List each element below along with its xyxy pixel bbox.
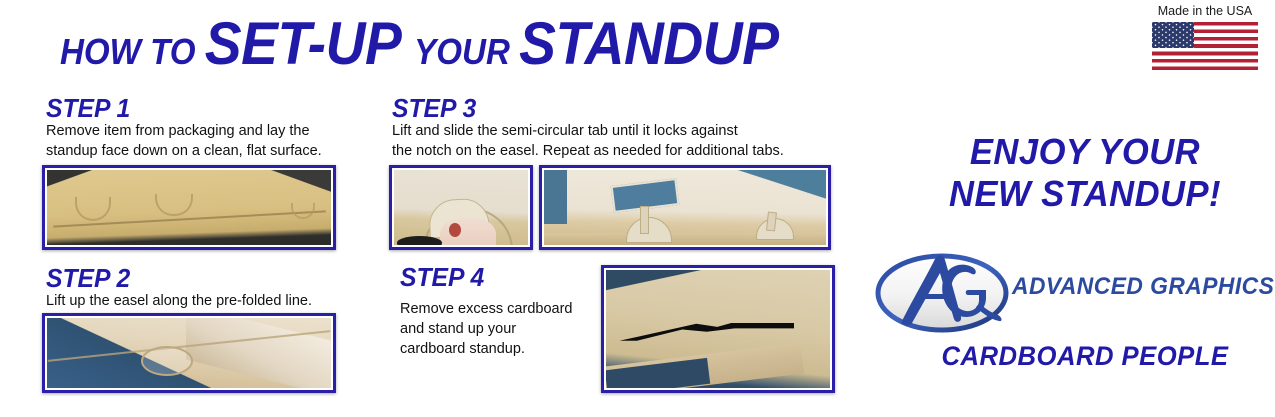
step-3-photo-left [389, 165, 533, 250]
flag-canton [1152, 22, 1194, 48]
enjoy-message: ENJOY YOUR NEW STANDUP! [912, 131, 1258, 215]
made-in-usa-label: Made in the USA [1146, 4, 1264, 19]
step-1-body: Remove item from packaging and lay the s… [46, 121, 356, 161]
step-4-body: Remove excess cardboard and stand up you… [400, 299, 610, 359]
us-flag-icon [1152, 22, 1258, 70]
title-part-standup: STANDUP [519, 10, 778, 77]
step-2-photo-image [47, 318, 331, 388]
step-4-photo [601, 265, 835, 393]
made-in-usa-badge: Made in the USA [1146, 4, 1264, 72]
title-part-your: YOUR [414, 31, 519, 72]
enjoy-line-2: NEW STANDUP! [912, 173, 1258, 215]
step-3-body: Lift and slide the semi-circular tab unt… [392, 121, 842, 161]
step-3-photo-right [539, 165, 831, 250]
page-title: HOW TO SET-UP YOUR STANDUP [60, 14, 779, 74]
step-4-heading: STEP 4 [400, 262, 484, 293]
step-1-photo [42, 165, 336, 250]
step-3-photo-right-image [544, 170, 826, 245]
brand-tagline: CARDBOARD PEOPLE [914, 341, 1256, 372]
title-part-how-to: HOW TO [60, 31, 205, 72]
step-2-photo [42, 313, 336, 393]
step-3-heading: STEP 3 [392, 93, 476, 124]
step-4-photo-image [606, 270, 830, 388]
title-part-setup: SET-UP [205, 10, 414, 77]
step-3-photo-left-image [394, 170, 528, 245]
step-1-photo-image [47, 170, 331, 245]
step-2-body: Lift up the easel along the pre-folded l… [46, 291, 356, 311]
instruction-sheet: HOW TO SET-UP YOUR STANDUP Made in the U… [0, 0, 1275, 417]
step-1-heading: STEP 1 [46, 93, 130, 124]
enjoy-line-1: ENJOY YOUR [912, 131, 1258, 173]
brand-name: ADVANCED GRAPHICS [1012, 273, 1274, 301]
step-2-heading: STEP 2 [46, 263, 130, 294]
advanced-graphics-logo [872, 243, 1012, 339]
